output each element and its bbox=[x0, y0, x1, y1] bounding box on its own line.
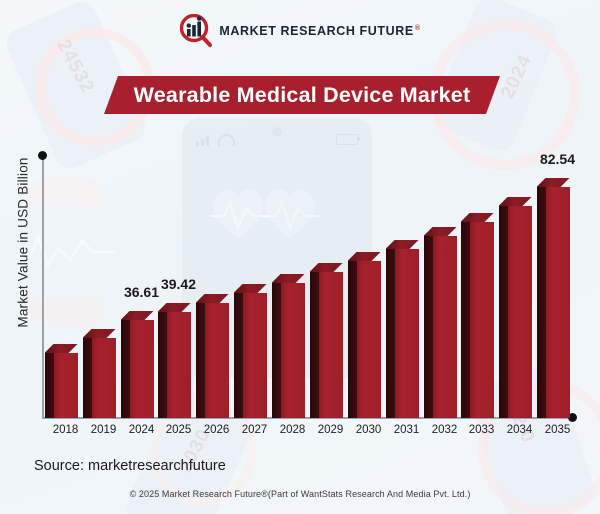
bar-front-face bbox=[167, 312, 191, 418]
bar-2032[interactable] bbox=[433, 227, 457, 418]
bar-top-face bbox=[45, 344, 78, 353]
bar-side-face bbox=[386, 249, 395, 418]
bar-top-face bbox=[424, 227, 457, 236]
bar-side-face bbox=[272, 283, 281, 418]
bar-top-face bbox=[310, 263, 343, 272]
bar-chart: Market Value in USD Billion 201820192024… bbox=[0, 0, 600, 514]
x-tick-2030: 2030 bbox=[349, 424, 389, 436]
x-tick-2018: 2018 bbox=[46, 424, 86, 436]
bar-top-face bbox=[461, 213, 494, 222]
bar-front-face bbox=[470, 222, 494, 418]
bar-front-face bbox=[54, 353, 78, 418]
bar-top-face bbox=[83, 329, 116, 338]
x-tick-2025: 2025 bbox=[159, 424, 199, 436]
bar-front-face bbox=[433, 236, 457, 418]
bar-front-face bbox=[130, 320, 154, 418]
bar-top-face bbox=[272, 274, 305, 283]
bar-side-face bbox=[310, 272, 319, 418]
bar-2031[interactable] bbox=[395, 240, 419, 418]
x-tick-2027: 2027 bbox=[235, 424, 275, 436]
bar-side-face bbox=[424, 236, 433, 418]
bar-side-face bbox=[121, 320, 130, 418]
bar-top-face bbox=[234, 284, 267, 293]
bar-front-face bbox=[508, 206, 532, 418]
bar-front-face bbox=[319, 272, 343, 418]
bar-2027[interactable] bbox=[243, 284, 267, 418]
bar-side-face bbox=[461, 222, 470, 418]
bar-2035[interactable] bbox=[546, 178, 570, 418]
bar-2030[interactable] bbox=[357, 252, 381, 418]
source-note: Source: marketresearchfuture bbox=[34, 458, 226, 474]
bar-side-face bbox=[45, 353, 54, 418]
bar-side-face bbox=[537, 187, 546, 418]
bar-2034[interactable] bbox=[508, 197, 532, 418]
bar-side-face bbox=[499, 206, 508, 418]
x-tick-2034: 2034 bbox=[500, 424, 540, 436]
copyright-note: © 2025 Market Research Future®(Part of W… bbox=[0, 489, 600, 499]
bar-front-face bbox=[546, 187, 570, 418]
x-tick-2028: 2028 bbox=[273, 424, 313, 436]
bar-front-face bbox=[395, 249, 419, 418]
infographic-page: 24532 2024 2.0 2030 bbox=[0, 0, 600, 514]
bar-side-face bbox=[158, 312, 167, 418]
x-tick-2035: 2035 bbox=[538, 424, 578, 436]
bar-value-label-2035: 82.54 bbox=[528, 151, 588, 167]
bar-top-face bbox=[499, 197, 532, 206]
bar-2025[interactable] bbox=[167, 303, 191, 418]
bar-front-face bbox=[205, 303, 229, 418]
x-tick-2029: 2029 bbox=[311, 424, 351, 436]
bar-top-face bbox=[348, 252, 381, 261]
x-tick-2032: 2032 bbox=[425, 424, 465, 436]
bar-top-face bbox=[386, 240, 419, 249]
bar-side-face bbox=[196, 303, 205, 418]
bar-side-face bbox=[348, 261, 357, 418]
bar-2024[interactable] bbox=[130, 311, 154, 418]
bar-top-face bbox=[537, 178, 570, 187]
bar-front-face bbox=[92, 338, 116, 418]
y-axis-label: Market Value in USD Billion bbox=[16, 128, 31, 358]
bar-top-face bbox=[158, 303, 191, 312]
x-tick-2026: 2026 bbox=[197, 424, 237, 436]
bar-front-face bbox=[357, 261, 381, 418]
bar-2026[interactable] bbox=[205, 294, 229, 418]
bar-2028[interactable] bbox=[281, 274, 305, 418]
bar-2029[interactable] bbox=[319, 263, 343, 418]
bar-2019[interactable] bbox=[92, 329, 116, 418]
x-tick-2019: 2019 bbox=[84, 424, 124, 436]
bar-top-face bbox=[121, 311, 154, 320]
bar-2033[interactable] bbox=[470, 213, 494, 418]
x-tick-2024: 2024 bbox=[122, 424, 162, 436]
bar-side-face bbox=[83, 338, 92, 418]
x-tick-2031: 2031 bbox=[387, 424, 427, 436]
bar-front-face bbox=[243, 293, 267, 418]
x-tick-2033: 2033 bbox=[462, 424, 502, 436]
bar-value-label-2025: 39.42 bbox=[149, 276, 209, 292]
bar-2018[interactable] bbox=[54, 344, 78, 418]
bar-side-face bbox=[234, 293, 243, 418]
bar-top-face bbox=[196, 294, 229, 303]
bar-front-face bbox=[281, 283, 305, 418]
